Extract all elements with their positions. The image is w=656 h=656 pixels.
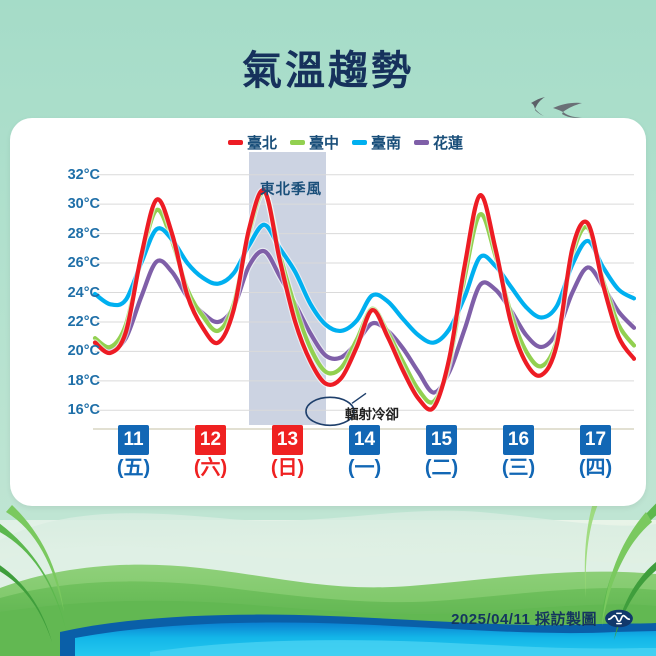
legend-item-臺北[interactable]: 臺北 — [228, 132, 277, 153]
date-axis-item: 15(二) — [405, 425, 479, 479]
date-number-badge: 13 — [272, 425, 303, 455]
legend-label: 臺北 — [247, 132, 277, 153]
date-number-badge: 15 — [426, 425, 457, 455]
weekday-label: (一) — [344, 457, 386, 479]
date-axis-item: 17(四) — [559, 425, 633, 479]
y-tick-label: 30°C — [20, 196, 100, 212]
legend-swatch-icon — [352, 140, 367, 145]
legend-item-臺中[interactable]: 臺中 — [290, 132, 339, 153]
footer-credit: 2025/04/11 採訪製圖 — [451, 608, 634, 629]
weekday-label: (日) — [267, 457, 309, 479]
annotation-radiative-cooling: 輻射冷卻 — [345, 403, 399, 423]
page-title: 氣溫趨勢 — [0, 38, 656, 96]
weekday-label: (二) — [421, 457, 463, 479]
legend-label: 臺南 — [371, 132, 401, 153]
legend-swatch-icon — [414, 140, 429, 145]
legend-swatch-icon — [290, 140, 305, 145]
y-tick-label: 24°C — [20, 285, 100, 301]
date-axis: 11(五)12(六)13(日)14(一)15(二)16(三)17(四) — [0, 425, 656, 505]
legend-label: 花蓮 — [433, 132, 463, 153]
legend-item-花蓮[interactable]: 花蓮 — [414, 132, 463, 153]
infographic-root: 氣溫趨勢 16°C18°C20°C22°C24°C26°C28°C30°C32°… — [0, 0, 656, 656]
date-number-badge: 11 — [118, 425, 149, 455]
date-axis-item: 11(五) — [97, 425, 171, 479]
footer-credit-text: 2025/04/11 採訪製圖 — [451, 608, 597, 629]
date-axis-item: 14(一) — [328, 425, 402, 479]
weekday-label: (五) — [113, 457, 155, 479]
date-axis-item: 16(三) — [482, 425, 556, 479]
date-axis-item: 12(六) — [174, 425, 248, 479]
y-tick-label: 20°C — [20, 343, 100, 359]
date-axis-item: 13(日) — [251, 425, 325, 479]
weekday-label: (六) — [190, 457, 232, 479]
date-number-badge: 14 — [349, 425, 380, 455]
date-number-badge: 17 — [580, 425, 611, 455]
annotation-northeast-monsoon: 東北季風 — [251, 178, 331, 199]
chart-legend: 臺北臺中臺南花蓮 — [228, 132, 463, 153]
weekday-label: (四) — [575, 457, 617, 479]
y-tick-label: 16°C — [20, 402, 100, 418]
legend-label: 臺中 — [309, 132, 339, 153]
cwa-wave-logo-icon — [604, 609, 634, 628]
weekday-label: (三) — [498, 457, 540, 479]
y-tick-label: 26°C — [20, 255, 100, 271]
y-tick-label: 32°C — [20, 167, 100, 183]
date-number-badge: 16 — [503, 425, 534, 455]
y-tick-label: 22°C — [20, 314, 100, 330]
legend-item-臺南[interactable]: 臺南 — [352, 132, 401, 153]
y-tick-label: 18°C — [20, 373, 100, 389]
y-tick-label: 28°C — [20, 226, 100, 242]
date-number-badge: 12 — [195, 425, 226, 455]
legend-swatch-icon — [228, 140, 243, 145]
